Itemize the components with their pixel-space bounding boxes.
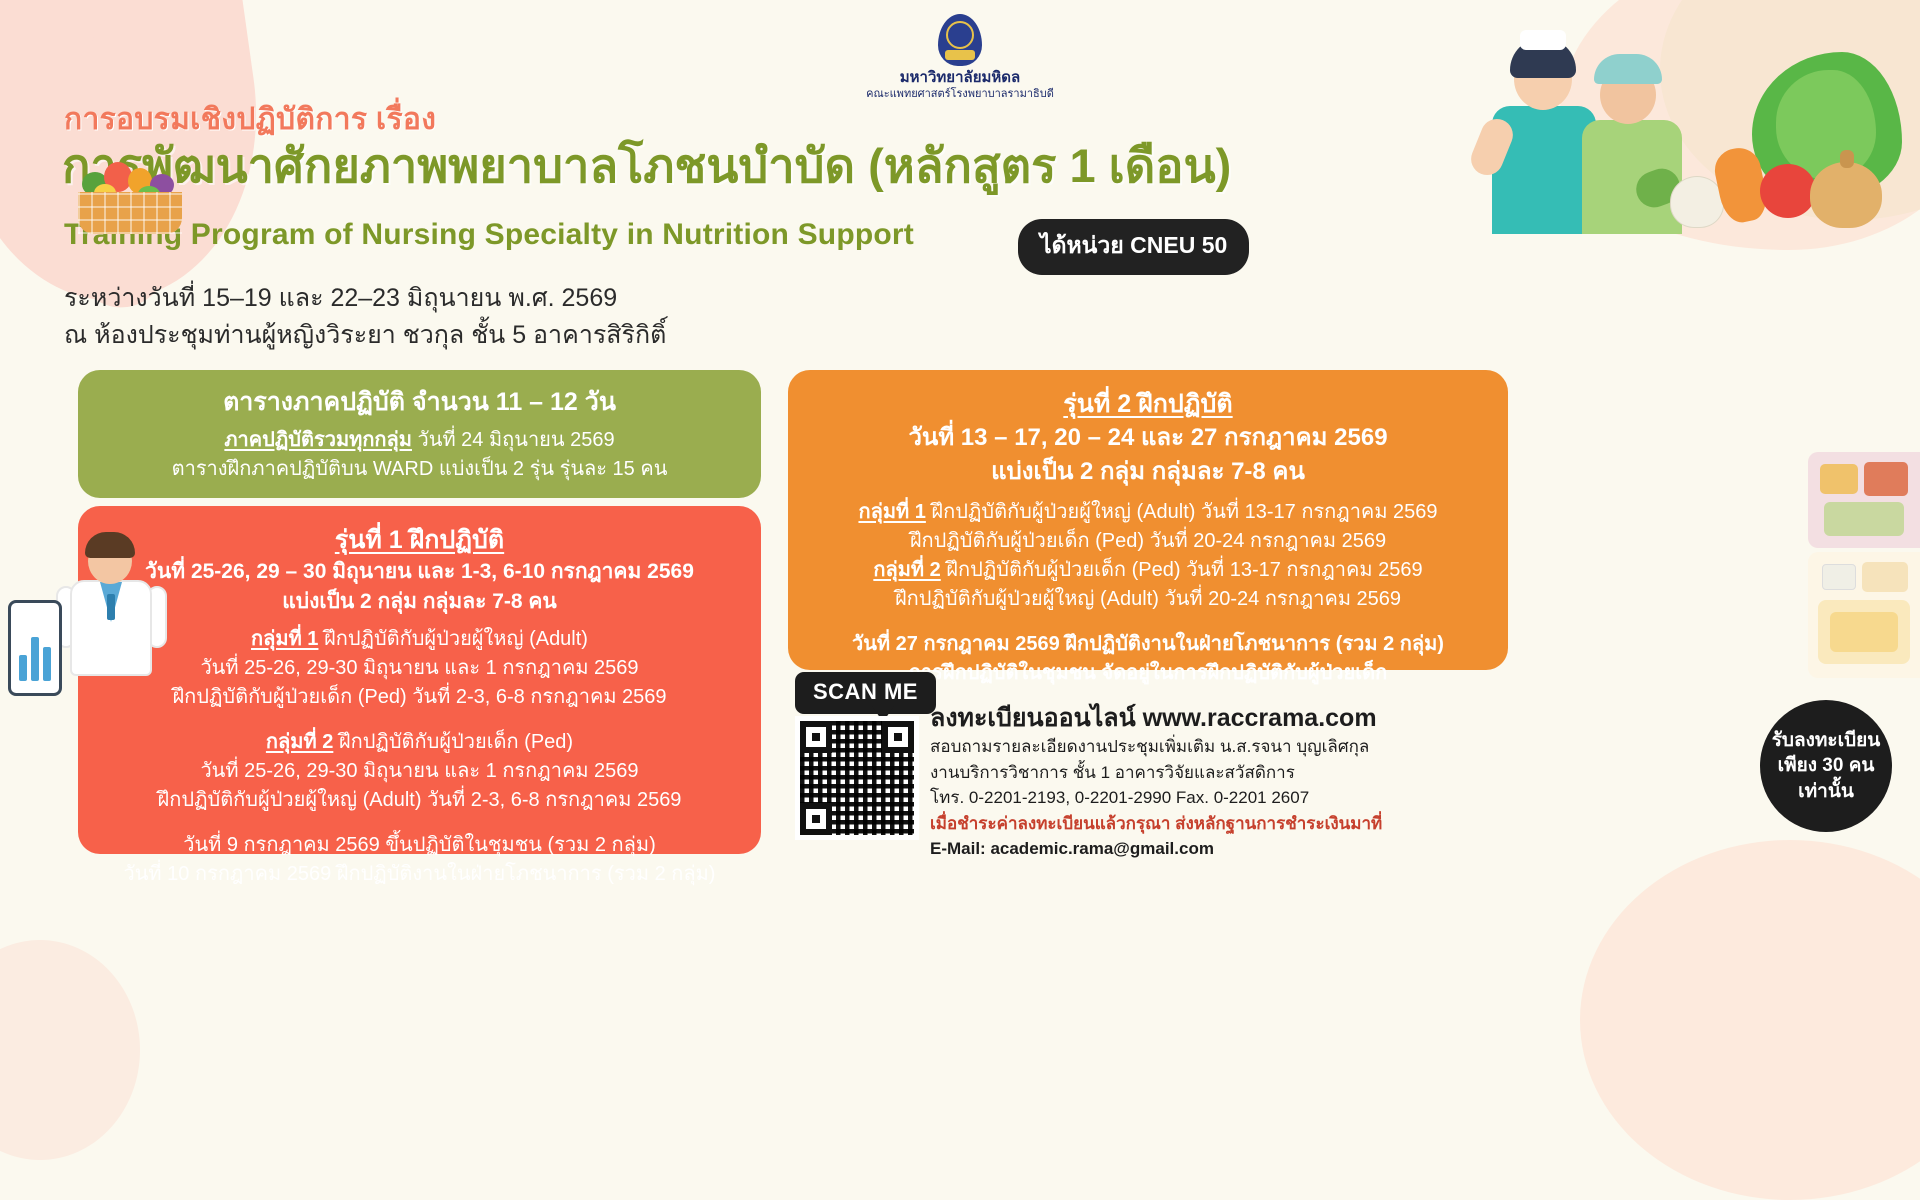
red-panel-footnote-2: วันที่ 10 กรกฎาคม 2569 ฝึกปฏิบัติงานในฝ่… xyxy=(100,860,739,889)
green-panel-line-2-rest: วันที่ 24 มิถุนายน 2569 xyxy=(412,429,615,451)
background-blob-bottom-right xyxy=(1580,840,1920,1200)
panel-batch-2: รุ่นที่ 2 ฝึกปฏิบัติ วันที่ 13 – 17, 20 … xyxy=(788,370,1508,670)
orange-group-2-line-1: กลุ่มที่ 2 ฝึกปฏิบัติกับผู้ป่วยเด็ก (Ped… xyxy=(814,556,1482,585)
food-photo-card-1 xyxy=(1808,452,1920,548)
limit-line-3: เท่านั้น xyxy=(1798,779,1854,805)
red-group-2-line-2: ฝึกปฏิบัติกับผู้ป่วยผู้ใหญ่ (Adult) วันท… xyxy=(100,786,739,815)
green-panel-heading: ตารางภาคปฏิบัติ จำนวน 11 – 12 วัน xyxy=(104,386,735,420)
red-panel-dates: วันที่ 25-26, 29 – 30 มิถุนายน และ 1-3, … xyxy=(100,557,739,587)
red-group-1-text: ฝึกปฏิบัติกับผู้ป่วยผู้ใหญ่ (Adult) xyxy=(318,628,588,650)
tablet-chart-illustration xyxy=(8,600,62,696)
contact-email[interactable]: E-Mail: academic.rama@gmail.com xyxy=(930,836,1382,862)
contact-line-2: งานบริการวิชาการ ชั้น 1 อาคารวิจัยและสวั… xyxy=(930,760,1382,786)
green-panel-line-2-label: ภาคปฏิบัติรวมทุกกลุ่ม xyxy=(224,429,412,451)
doctor-illustration xyxy=(52,520,182,750)
green-panel-line-2: ภาคปฏิบัติรวมทุกกลุ่ม วันที่ 24 มิถุนายน… xyxy=(104,426,735,455)
red-group-2-title: กลุ่มที่ 2 ฝึกปฏิบัติกับผู้ป่วยเด็ก (Ped… xyxy=(100,728,739,757)
red-group-1-line-2: ฝึกปฏิบัติกับผู้ป่วยเด็ก (Ped) วันที่ 2-… xyxy=(100,683,739,712)
panel-practical-schedule: ตารางภาคปฏิบัติ จำนวน 11 – 12 วัน ภาคปฏิ… xyxy=(78,370,761,498)
event-venue: ณ ห้องประชุมท่านผู้หญิงวิระยา ชวกุล ชั้น… xyxy=(64,315,666,355)
red-panel-heading: รุ่นที่ 1 ฝึกปฏิบัติ xyxy=(100,524,739,557)
orange-group-1-label: กลุ่มที่ 1 xyxy=(858,501,925,523)
orange-group-1-line-1: กลุ่มที่ 1 ฝึกปฏิบัติกับผู้ป่วยผู้ใหญ่ (… xyxy=(814,498,1482,527)
vegetables-illustration xyxy=(1610,52,1910,262)
red-panel-footnote-1: วันที่ 9 กรกฎาคม 2569 ขึ้นปฏิบัติในชุมชน… xyxy=(100,831,739,860)
red-group-2-line-1: วันที่ 25-26, 29-30 มิถุนายน และ 1 กรกฎา… xyxy=(100,757,739,786)
green-panel-line-3: ตารางฝึกภาคปฏิบัติบน WARD แบ่งเป็น 2 รุ่… xyxy=(104,455,735,484)
contact-line-1: สอบถามรายละเอียดงานประชุมเพิ่มเติม น.ส.ร… xyxy=(930,734,1382,760)
food-photo-card-2 xyxy=(1808,552,1920,678)
contact-line-4: เมื่อชำระค่าลงทะเบียนแล้วกรุณา ส่งหลักฐา… xyxy=(930,811,1382,837)
page-title-thai: การพัฒนาศักยภาพพยาบาลโภชนบำบัด (หลักสูตร… xyxy=(62,140,1231,192)
event-date: ระหว่างวันที่ 15–19 และ 22–23 มิถุนายน พ… xyxy=(64,278,617,318)
red-group-2-text: ฝึกปฏิบัติกับผู้ป่วยเด็ก (Ped) xyxy=(333,731,573,753)
university-logo-block: มหาวิทยาลัยมหิดล คณะแพทยศาสตร์โรงพยาบาลร… xyxy=(780,14,1140,102)
red-group-1-label: กลุ่มที่ 1 xyxy=(251,628,318,650)
mahidol-crest-icon xyxy=(938,14,982,66)
faculty-name: คณะแพทยศาสตร์โรงพยาบาลรามาธิบดี xyxy=(780,88,1140,102)
orange-group-2-text: ฝึกปฏิบัติกับผู้ป่วยเด็ก (Ped) วันที่ 13… xyxy=(941,559,1423,581)
vegetable-basket-illustration xyxy=(64,150,194,236)
limit-line-2: เพียง 30 คน xyxy=(1778,753,1875,779)
orange-panel-heading: รุ่นที่ 2 ฝึกปฏิบัติ xyxy=(814,388,1482,421)
registration-title[interactable]: ลงทะเบียนออนไลน์ www.raccrama.com xyxy=(930,698,1377,738)
limit-line-1: รับลงทะเบียน xyxy=(1772,728,1881,754)
background-blob-bottom-left xyxy=(0,940,140,1160)
contact-line-3: โทร. 0-2201-2193, 0-2201-2990 Fax. 0-220… xyxy=(930,785,1382,811)
qr-code-icon[interactable] xyxy=(795,716,919,840)
orange-group-2-label: กลุ่มที่ 2 xyxy=(873,559,940,581)
scan-me-label: SCAN ME xyxy=(795,672,936,714)
orange-panel-dates: วันที่ 13 – 17, 20 – 24 และ 27 กรกฎาคม 2… xyxy=(814,421,1482,456)
orange-group-1-text: ฝึกปฏิบัติกับผู้ป่วยผู้ใหญ่ (Adult) วันท… xyxy=(926,501,1438,523)
red-group-2-label: กลุ่มที่ 2 xyxy=(266,731,333,753)
red-panel-split: แบ่งเป็น 2 กลุ่ม กลุ่มละ 7-8 คน xyxy=(100,587,739,617)
cneu-badge: ได้หน่วย CNEU 50 xyxy=(1018,219,1249,275)
poster-kicker: การอบรมเชิงปฏิบัติการ เรื่อง xyxy=(64,96,436,143)
red-group-1-title: กลุ่มที่ 1 ฝึกปฏิบัติกับผู้ป่วยผู้ใหญ่ (… xyxy=(100,625,739,654)
university-name: มหาวิทยาลัยมหิดล xyxy=(780,69,1140,88)
orange-panel-split: แบ่งเป็น 2 กลุ่ม กลุ่มละ 7-8 คน xyxy=(814,455,1482,490)
orange-group-2-line-2: ฝึกปฏิบัติกับผู้ป่วยผู้ใหญ่ (Adult) วันท… xyxy=(814,585,1482,614)
orange-group-1-line-2: ฝึกปฏิบัติกับผู้ป่วยเด็ก (Ped) วันที่ 20… xyxy=(814,527,1482,556)
red-group-1-line-1: วันที่ 25-26, 29-30 มิถุนายน และ 1 กรกฎา… xyxy=(100,654,739,683)
registration-limit-badge: รับลงทะเบียน เพียง 30 คน เท่านั้น xyxy=(1760,700,1892,832)
orange-panel-footnote-1: วันที่ 27 กรกฎาคม 2569 ฝึกปฏิบัติงานในฝ่… xyxy=(814,630,1482,659)
contact-block: สอบถามรายละเอียดงานประชุมเพิ่มเติม น.ส.ร… xyxy=(930,734,1382,862)
